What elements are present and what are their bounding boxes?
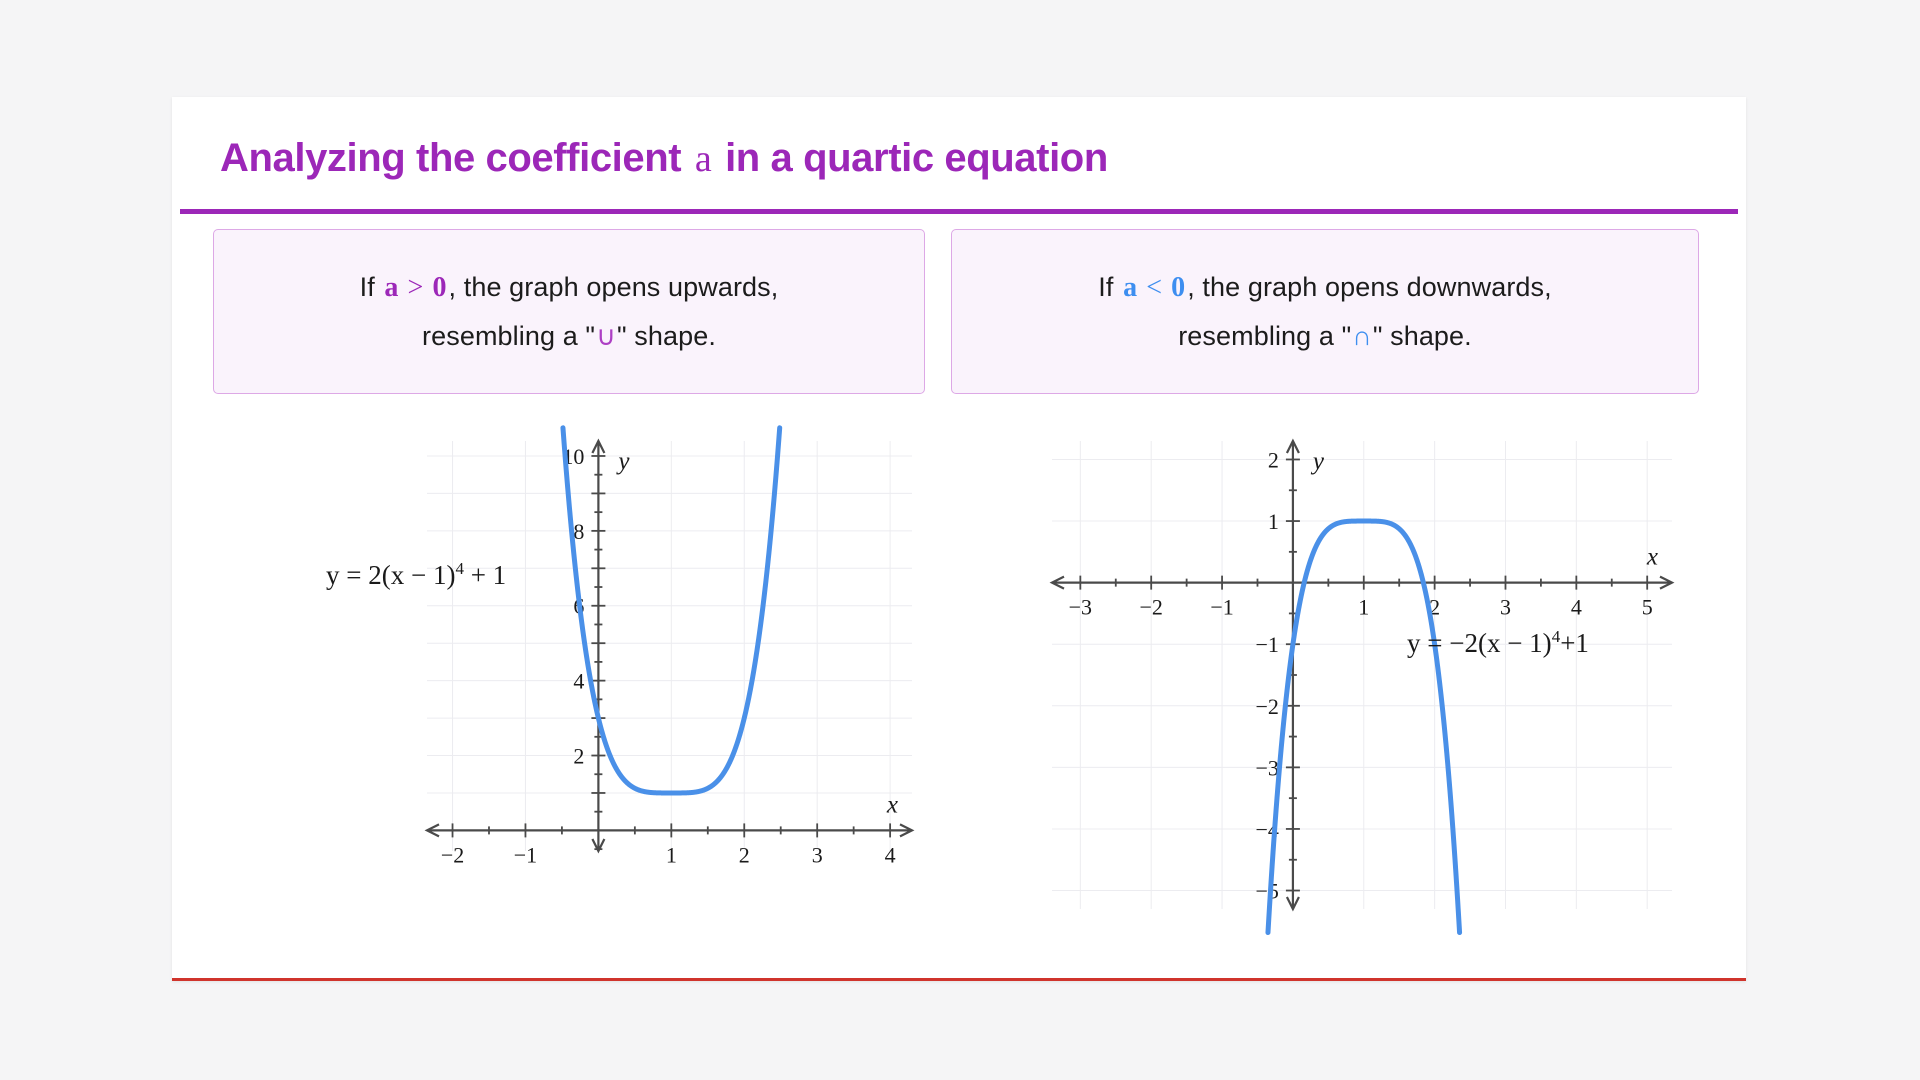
- svg-text:−1: −1: [1255, 632, 1278, 657]
- coefficient-variable: a: [1121, 272, 1139, 303]
- comparison-operator: <: [1139, 272, 1169, 303]
- svg-text:2: 2: [573, 744, 584, 769]
- union-shape-icon: ∪: [595, 321, 617, 351]
- title-divider: [180, 209, 1738, 214]
- title-text: Analyzing the coefficient a in a quartic…: [220, 135, 1730, 182]
- svg-text:5: 5: [1642, 595, 1653, 620]
- svg-text:y: y: [1310, 448, 1325, 475]
- statement-line-2: resembling a "∩" shape.: [1178, 312, 1472, 360]
- statement-prefix: If: [360, 272, 375, 302]
- equation-coefficient: 2: [368, 560, 382, 590]
- svg-text:3: 3: [812, 842, 823, 867]
- shape-suffix: " shape.: [617, 321, 716, 351]
- statement-box-positive: If a>0, the graph opens upwards, resembl…: [213, 229, 925, 394]
- svg-text:4: 4: [885, 842, 896, 867]
- comparison-value: 0: [430, 272, 448, 303]
- title-text-before: Analyzing the coefficient: [220, 136, 681, 180]
- chart-quartic-negative: −3−2−112345−5−4−3−2−112xy y = −2(x − 1)4…: [992, 419, 1692, 939]
- equation-lhs: y =: [1407, 628, 1442, 658]
- equation-constant: +1: [1560, 628, 1589, 658]
- statement-suffix: , the graph opens downwards,: [1187, 272, 1552, 302]
- svg-text:−2: −2: [1139, 595, 1162, 620]
- intersection-shape-icon: ∩: [1351, 321, 1373, 351]
- lesson-card: Analyzing the coefficient a in a quartic…: [172, 97, 1746, 981]
- statement-line-1: If a<0, the graph opens downwards,: [1098, 263, 1551, 313]
- page-title: Analyzing the coefficient a in a quartic…: [220, 135, 1730, 182]
- svg-text:−1: −1: [1210, 595, 1233, 620]
- equation-base: (x − 1): [1478, 628, 1552, 658]
- svg-text:8: 8: [573, 519, 584, 544]
- svg-text:2: 2: [739, 842, 750, 867]
- statement-prefix: If: [1098, 272, 1113, 302]
- equation-exponent: 4: [455, 559, 464, 578]
- svg-text:1: 1: [1358, 595, 1369, 620]
- svg-text:1: 1: [1268, 509, 1279, 534]
- shape-prefix: resembling a ": [1178, 321, 1351, 351]
- equation-base: (x − 1): [382, 560, 456, 590]
- statement-line-2: resembling a "∪" shape.: [422, 312, 716, 360]
- equation-exponent: 4: [1552, 627, 1561, 646]
- title-math-variable: a: [692, 138, 714, 180]
- svg-text:−2: −2: [441, 842, 464, 867]
- svg-text:−3: −3: [1255, 755, 1278, 780]
- svg-text:2: 2: [1268, 447, 1279, 472]
- svg-text:3: 3: [1500, 595, 1511, 620]
- comparison-value: 0: [1169, 272, 1187, 303]
- statement-box-negative: If a<0, the graph opens downwards, resem…: [951, 229, 1699, 394]
- svg-text:−2: −2: [1255, 694, 1278, 719]
- svg-text:−1: −1: [514, 842, 537, 867]
- equation-lhs: y =: [326, 560, 361, 590]
- svg-text:1: 1: [666, 842, 677, 867]
- statement-suffix: , the graph opens upwards,: [449, 272, 779, 302]
- chart-canvas-negative: −3−2−112345−5−4−3−2−112xy: [992, 419, 1692, 939]
- graphs-area: −2−11234246810xy y = 2(x − 1)4 + 1 −3−2−…: [192, 419, 1726, 939]
- equation-label-positive: y = 2(x − 1)4 + 1: [326, 559, 506, 591]
- svg-text:4: 4: [573, 669, 584, 694]
- svg-text:x: x: [1646, 544, 1658, 571]
- comparison-operator: >: [401, 272, 431, 303]
- svg-text:y: y: [615, 448, 630, 475]
- statement-line-1: If a>0, the graph opens upwards,: [360, 263, 779, 313]
- title-text-after: in a quartic equation: [725, 136, 1108, 180]
- statement-boxes: If a>0, the graph opens upwards, resembl…: [213, 229, 1705, 394]
- svg-text:−3: −3: [1069, 595, 1092, 620]
- shape-prefix: resembling a ": [422, 321, 595, 351]
- svg-text:4: 4: [1571, 595, 1582, 620]
- chart-quartic-positive: −2−11234246810xy y = 2(x − 1)4 + 1: [292, 419, 932, 939]
- svg-text:x: x: [886, 791, 898, 818]
- equation-coefficient: −2: [1449, 628, 1478, 658]
- svg-text:−5: −5: [1255, 879, 1278, 904]
- coefficient-variable: a: [382, 272, 400, 303]
- equation-label-negative: y = −2(x − 1)4+1: [1407, 627, 1589, 659]
- chart-canvas-positive: −2−11234246810xy: [292, 419, 932, 939]
- page-root: Analyzing the coefficient a in a quartic…: [0, 0, 1920, 1080]
- equation-constant: + 1: [471, 560, 506, 590]
- shape-suffix: " shape.: [1373, 321, 1472, 351]
